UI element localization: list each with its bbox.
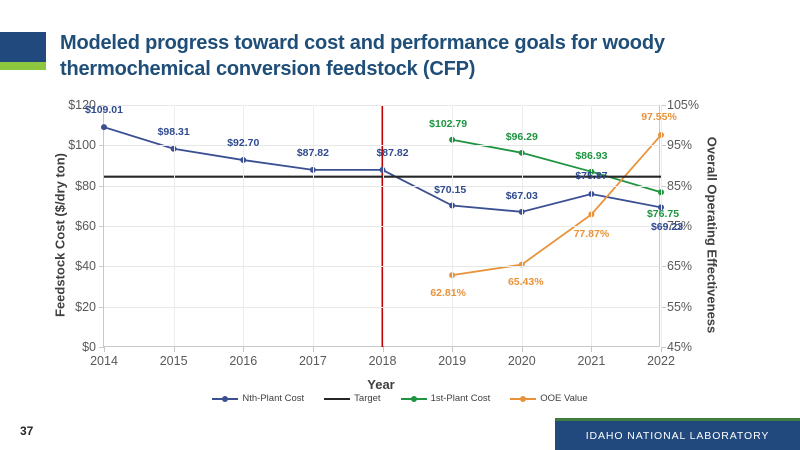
x-gridline xyxy=(452,105,453,346)
x-axis-tick xyxy=(104,347,105,352)
y-axis-left-tick xyxy=(99,145,104,146)
data-point-label: $87.82 xyxy=(297,147,329,159)
x-axis-tick xyxy=(313,347,314,352)
x-axis-tick-label: 2021 xyxy=(577,354,605,368)
legend-item-ooe-value[interactable]: OOE Value xyxy=(510,393,587,404)
y-axis-right-tick-label: 65% xyxy=(667,259,692,273)
data-point-label: $92.70 xyxy=(227,137,259,149)
data-point-label: $87.82 xyxy=(376,147,408,159)
chart-container: Feedstock Cost ($/dry ton) Overall Opera… xyxy=(0,90,800,400)
y-axis-left-tick-label: $0 xyxy=(82,340,96,354)
y-axis-left-tick xyxy=(99,186,104,187)
plot-area: $0$20$40$60$80$100$12045%55%65%75%85%95%… xyxy=(103,105,660,347)
title-accent-green-strip xyxy=(0,62,46,70)
y-axis-left-tick-label: $60 xyxy=(75,219,96,233)
series-line-ooe-value xyxy=(452,135,661,275)
y-gridline xyxy=(104,226,659,227)
data-point-label: $96.29 xyxy=(506,131,538,143)
x-gridline xyxy=(313,105,314,346)
x-gridline xyxy=(174,105,175,346)
legend-swatch-icon xyxy=(401,394,427,403)
y-axis-left-title: Feedstock Cost ($/dry ton) xyxy=(53,153,68,317)
legend-item-target[interactable]: Target xyxy=(324,393,380,404)
legend-label: 1st-Plant Cost xyxy=(431,393,491,404)
slide-number: 37 xyxy=(20,424,33,438)
footer-logo-badge: IDAHO NATIONAL LABORATORY xyxy=(555,418,800,450)
y-axis-left-tick-label: $40 xyxy=(75,259,96,273)
y-axis-right-title: Overall Operating Effectiveness xyxy=(705,137,720,334)
data-point-label: $86.93 xyxy=(575,150,607,162)
data-point-label: $76.75 xyxy=(647,208,679,220)
x-axis-tick xyxy=(383,347,384,352)
y-axis-left-tick xyxy=(99,226,104,227)
data-point-label: $102.79 xyxy=(429,118,467,130)
x-axis-tick-label: 2016 xyxy=(229,354,257,368)
y-axis-left-tick xyxy=(99,266,104,267)
legend-item-nth-plant-cost[interactable]: Nth-Plant Cost xyxy=(212,393,304,404)
data-point-label: $75.87 xyxy=(575,170,607,182)
x-axis-tick-label: 2018 xyxy=(369,354,397,368)
chart-legend: Nth-Plant CostTarget1st-Plant CostOOE Va… xyxy=(0,393,800,404)
data-point-label: $70.15 xyxy=(434,184,466,196)
series-line-1st-plant-cost xyxy=(452,140,661,193)
data-point-label: 77.87% xyxy=(574,228,610,240)
footer-org-label: IDAHO NATIONAL LABORATORY xyxy=(586,430,770,442)
legend-label: Target xyxy=(354,393,380,404)
x-axis-tick xyxy=(174,347,175,352)
data-point-label: 62.81% xyxy=(430,287,466,299)
data-point-label: $67.03 xyxy=(506,190,538,202)
data-point-label: 65.43% xyxy=(508,276,544,288)
legend-label: Nth-Plant Cost xyxy=(242,393,304,404)
x-axis-title: Year xyxy=(367,377,394,392)
x-axis-tick xyxy=(522,347,523,352)
x-axis-tick xyxy=(452,347,453,352)
legend-swatch-icon xyxy=(212,394,238,403)
legend-swatch-icon xyxy=(510,394,536,403)
x-axis-tick xyxy=(243,347,244,352)
legend-item-1st-plant-cost[interactable]: 1st-Plant Cost xyxy=(401,393,491,404)
x-axis-tick-label: 2017 xyxy=(299,354,327,368)
x-axis-tick-label: 2015 xyxy=(160,354,188,368)
data-point-marker xyxy=(101,124,107,130)
y-axis-right-tick-label: 45% xyxy=(667,340,692,354)
page-title: Modeled progress toward cost and perform… xyxy=(60,30,780,82)
y-gridline xyxy=(104,266,659,267)
x-axis-tick-label: 2020 xyxy=(508,354,536,368)
data-point-label: $109.01 xyxy=(85,104,123,116)
x-axis-tick-label: 2022 xyxy=(647,354,675,368)
title-accent-navy-block xyxy=(0,32,46,62)
x-axis-tick-label: 2014 xyxy=(90,354,118,368)
x-axis-tick-label: 2019 xyxy=(438,354,466,368)
y-axis-right-tick-label: 85% xyxy=(667,179,692,193)
data-point-label: 97.55% xyxy=(641,111,677,123)
y-axis-right-tick-label: 105% xyxy=(667,98,699,112)
y-axis-right-tick-label: 95% xyxy=(667,138,692,152)
y-gridline xyxy=(104,105,659,106)
x-gridline xyxy=(591,105,592,346)
data-point-label: $98.31 xyxy=(158,126,190,138)
y-axis-right-tick-label: 55% xyxy=(667,300,692,314)
y-axis-left-tick xyxy=(99,307,104,308)
y-axis-left-tick-label: $80 xyxy=(75,179,96,193)
legend-swatch-icon xyxy=(324,394,350,403)
y-gridline xyxy=(104,307,659,308)
y-axis-left-tick-label: $100 xyxy=(68,138,96,152)
data-point-label: $69.23 xyxy=(651,221,683,233)
legend-label: OOE Value xyxy=(540,393,587,404)
x-axis-tick xyxy=(661,347,662,352)
y-axis-left-tick-label: $20 xyxy=(75,300,96,314)
y-gridline xyxy=(104,186,659,187)
x-axis-tick xyxy=(591,347,592,352)
x-gridline xyxy=(383,105,384,346)
